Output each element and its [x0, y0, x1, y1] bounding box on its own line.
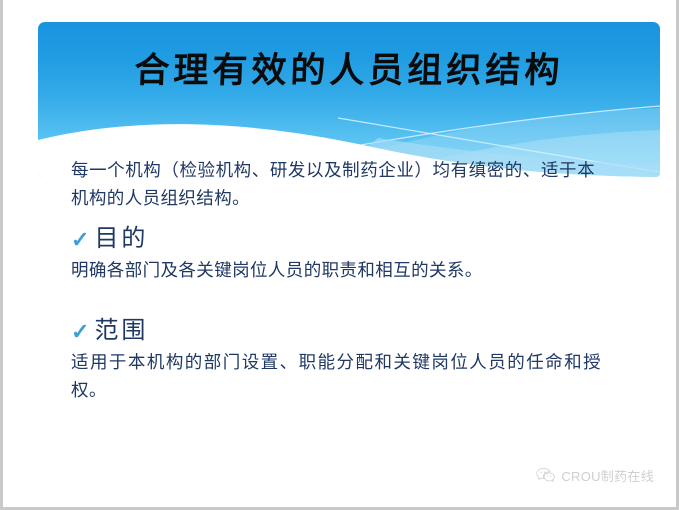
page-title: 合理有效的人员组织结构 [37, 42, 661, 93]
watermark-label: CROU制药在线 [561, 466, 654, 485]
presentation-slide: 合理有效的人员组织结构 每一个机构（检验机构、研发以及制药企业）均有缜密的、适于… [0, 0, 679, 510]
section-purpose-body: 明确各部门及各关键岗位人员的职责和相互的关系。 [71, 257, 601, 285]
checkmark-icon: ✓ [71, 321, 89, 343]
wechat-logo-icon [536, 467, 555, 484]
checkmark-icon: ✓ [71, 229, 89, 251]
section-scope-body: 适用于本机构的部门设置、职能分配和关键岗位人员的任命和授权。 [71, 349, 601, 405]
section-scope: ✓ 范围 适用于本机构的部门设置、职能分配和关键岗位人员的任命和授权。 [71, 313, 611, 405]
section-purpose: ✓ 目的 明确各部门及各关键岗位人员的职责和相互的关系。 [71, 221, 611, 285]
section-purpose-header: ✓ 目的 [71, 221, 611, 255]
section-scope-header: ✓ 范围 [71, 313, 611, 347]
section-purpose-title: 目的 [94, 221, 148, 255]
lead-paragraph: 每一个机构（检验机构、研发以及制药企业）均有缜密的、适于本机构的人员组织结构。 [71, 157, 595, 213]
watermark: CROU制药在线 [536, 466, 654, 485]
slide-body: 每一个机构（检验机构、研发以及制药企业）均有缜密的、适于本机构的人员组织结构。 … [71, 157, 611, 405]
section-scope-title: 范围 [94, 313, 148, 347]
